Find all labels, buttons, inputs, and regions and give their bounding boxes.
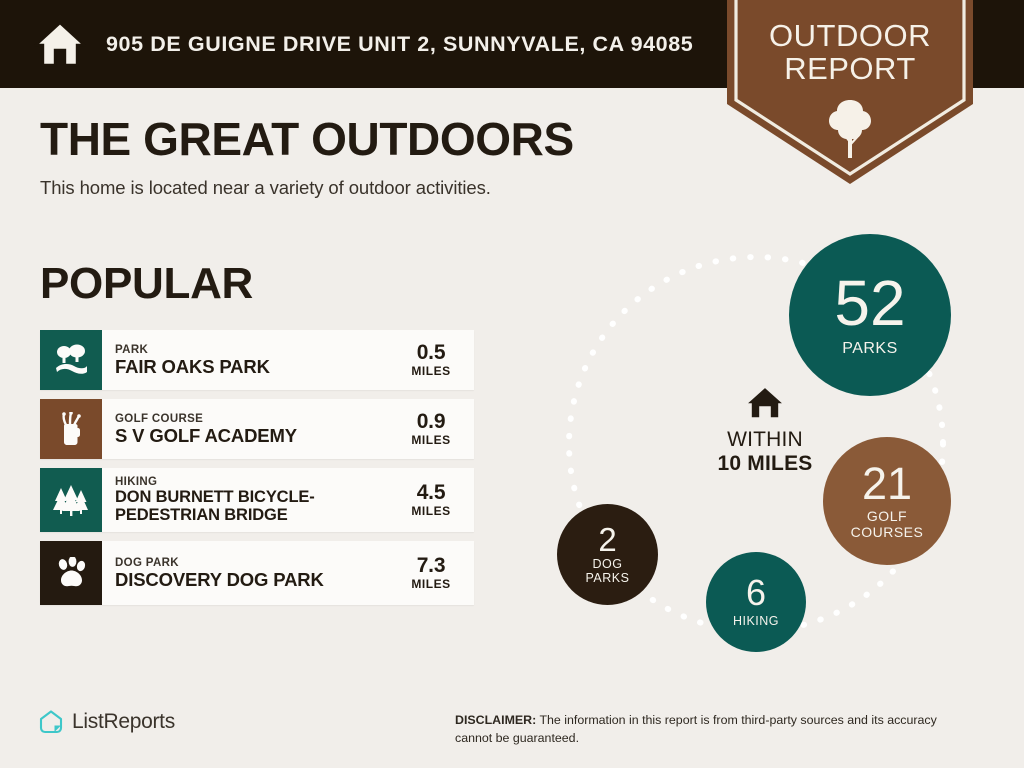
park-trees-icon <box>53 344 89 376</box>
bubble-parks-value: 52 <box>834 273 905 334</box>
bubble-dog-parks-label: DOG PARKS <box>586 558 630 585</box>
poi-distance: 7.3 MILES <box>396 541 474 605</box>
bubble-golf-label-line2: COURSES <box>851 524 924 540</box>
poi-text: DOG PARK DISCOVERY DOG PARK <box>102 541 396 605</box>
poi-distance-unit: MILES <box>411 364 450 378</box>
list-item[interactable]: PARK FAIR OAKS PARK 0.5 MILES <box>40 330 474 390</box>
poi-name: S V GOLF ACADEMY <box>115 426 396 446</box>
poi-text: PARK FAIR OAKS PARK <box>102 330 396 390</box>
pine-trees-icon <box>52 484 90 516</box>
paw-print-icon <box>54 557 88 589</box>
bubble-hiking-label: HIKING <box>733 615 779 629</box>
poi-category: DOG PARK <box>115 556 396 570</box>
list-item[interactable]: DOG PARK DISCOVERY DOG PARK 7.3 MILES <box>40 541 474 605</box>
popular-heading: POPULAR <box>40 262 253 306</box>
poi-icon-tile <box>40 399 102 459</box>
poi-name: DISCOVERY DOG PARK <box>115 570 396 590</box>
poi-distance: 0.9 MILES <box>396 399 474 459</box>
bubble-dog-parks-value: 2 <box>598 524 616 556</box>
poi-distance-unit: MILES <box>411 433 450 447</box>
chart-center-line1: WITHIN <box>682 428 848 452</box>
within-10-miles-chart: 52 PARKS 21 GOLF COURSES 6 HIKING 2 DOG … <box>530 222 1000 652</box>
poi-distance-value: 0.9 <box>417 411 446 433</box>
home-icon <box>34 20 86 68</box>
poi-distance-value: 4.5 <box>417 482 446 504</box>
disclaimer-label: DISCLAIMER: <box>455 713 536 727</box>
poi-category: HIKING <box>115 475 396 489</box>
poi-distance-value: 0.5 <box>417 342 446 364</box>
bubble-golf-value: 21 <box>862 462 912 505</box>
bubble-parks-label: PARKS <box>842 340 898 357</box>
title-block: THE GREAT OUTDOORS This home is located … <box>40 116 574 199</box>
outdoor-report-badge: OUTDOOR REPORT <box>727 0 973 184</box>
poi-category: GOLF COURSE <box>115 412 396 426</box>
golf-bag-icon <box>56 412 86 446</box>
poi-icon-tile <box>40 468 102 532</box>
popular-list: PARK FAIR OAKS PARK 0.5 MILES GOLF COURS… <box>40 330 474 614</box>
poi-name: FAIR OAKS PARK <box>115 357 396 377</box>
listreports-house-icon <box>38 709 64 735</box>
property-address: 905 DE GUIGNE DRIVE UNIT 2, SUNNYVALE, C… <box>106 32 693 57</box>
bubble-dog-parks[interactable]: 2 DOG PARKS <box>557 504 658 605</box>
tree-icon <box>827 98 873 160</box>
bubble-dog-parks-label-line1: DOG <box>593 557 623 571</box>
chart-center-label: WITHIN 10 MILES <box>682 385 848 475</box>
bubble-golf-label-line1: GOLF <box>867 508 907 524</box>
list-item[interactable]: GOLF COURSE S V GOLF ACADEMY 0.9 MILES <box>40 399 474 459</box>
bubble-parks[interactable]: 52 PARKS <box>789 234 951 396</box>
poi-text: HIKING DON BURNETT BICYCLE-PEDESTRIAN BR… <box>102 468 396 532</box>
poi-text: GOLF COURSE S V GOLF ACADEMY <box>102 399 396 459</box>
poi-distance-value: 7.3 <box>417 555 446 577</box>
home-icon <box>744 385 786 421</box>
bubble-hiking[interactable]: 6 HIKING <box>706 552 806 652</box>
poi-icon-tile <box>40 330 102 390</box>
page-title: THE GREAT OUTDOORS <box>40 116 574 162</box>
chart-center-line2: 10 MILES <box>682 452 848 476</box>
bubble-hiking-value: 6 <box>746 576 766 611</box>
poi-name: DON BURNETT BICYCLE-PEDESTRIAN BRIDGE <box>115 489 396 525</box>
page-subtitle: This home is located near a variety of o… <box>40 177 574 199</box>
poi-distance: 4.5 MILES <box>396 468 474 532</box>
poi-distance-unit: MILES <box>411 504 450 518</box>
bubble-golf-label: GOLF COURSES <box>851 509 924 539</box>
listreports-logo-text: ListReports <box>72 710 175 734</box>
disclaimer: DISCLAIMER: The information in this repo… <box>455 712 975 748</box>
poi-icon-tile <box>40 541 102 605</box>
poi-distance-unit: MILES <box>411 577 450 591</box>
list-item[interactable]: HIKING DON BURNETT BICYCLE-PEDESTRIAN BR… <box>40 468 474 532</box>
poi-category: PARK <box>115 343 396 357</box>
listreports-logo[interactable]: ListReports <box>38 709 175 735</box>
poi-distance: 0.5 MILES <box>396 330 474 390</box>
bubble-dog-parks-label-line2: PARKS <box>586 571 630 585</box>
